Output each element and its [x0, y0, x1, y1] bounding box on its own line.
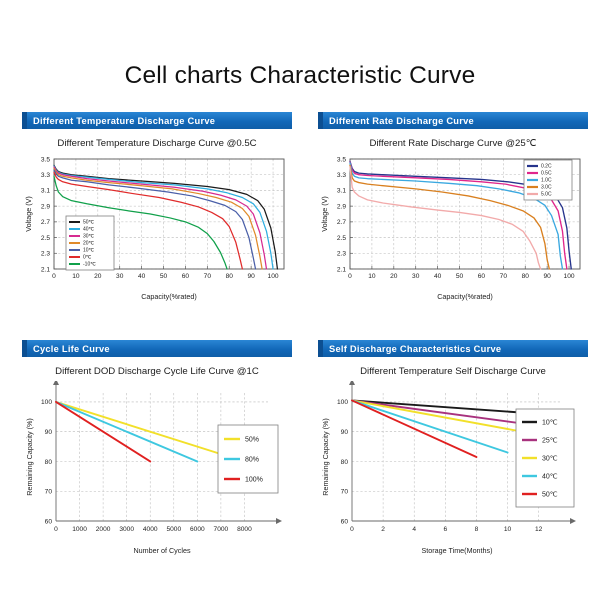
- panel-header-label: Cycle Life Curve: [33, 344, 110, 354]
- y-tick-label: 3.3: [41, 172, 50, 179]
- x-tick-label: 5000: [166, 526, 181, 533]
- legend-label: 3.0C: [541, 185, 552, 191]
- panel-header-label: Self Discharge Characteristics Curve: [329, 344, 501, 354]
- legend-label: 100%: [245, 476, 263, 483]
- x-tick-label: 10: [504, 526, 512, 533]
- y-tick-label: 2.5: [337, 235, 346, 242]
- y-axis-title: Voltage (V): [24, 196, 33, 232]
- chart-svg-self-discharge: 02468101260708090100Storage Time(Months)…: [318, 381, 588, 561]
- y-tick-label: 3.5: [41, 156, 50, 163]
- legend-label: 10℃: [83, 248, 95, 254]
- y-tick-label: 70: [45, 489, 53, 496]
- x-tick-label: 30: [412, 273, 420, 280]
- panel-header-label: Different Temperature Discharge Curve: [33, 116, 215, 126]
- x-axis-arrow-icon: [276, 518, 282, 524]
- legend-label: 30℃: [542, 455, 558, 462]
- x-tick-label: 1000: [72, 526, 87, 533]
- legend-label: 1.0C: [541, 178, 552, 184]
- page-title: Cell charts Characteristic Curve: [0, 62, 600, 90]
- y-tick-label: 3.5: [337, 156, 346, 163]
- panel-self-discharge: Self Discharge Characteristics Curve Dif…: [318, 340, 588, 561]
- legend-label: 25℃: [542, 437, 558, 444]
- x-tick-label: 100: [564, 273, 575, 280]
- x-tick-label: 80: [226, 273, 234, 280]
- y-tick-label: 60: [45, 518, 53, 525]
- x-tick-label: 6000: [190, 526, 205, 533]
- chart-svg-temperature-discharge: 01020304050607080901002.12.32.52.72.93.1…: [22, 153, 292, 303]
- x-axis-arrow-icon: [570, 518, 576, 524]
- panel-header-label: Different Rate Discharge Curve: [329, 116, 474, 126]
- legend-label: 50℃: [542, 491, 558, 498]
- panel-rate-discharge: Different Rate Discharge Curve Different…: [318, 112, 588, 303]
- x-tick-label: 8: [475, 526, 479, 533]
- y-tick-label: 60: [341, 518, 349, 525]
- y-tick-label: 2.9: [41, 203, 50, 210]
- plot-cycle-life: 0100020003000400050006000700080006070809…: [22, 381, 292, 561]
- y-tick-label: 3.3: [337, 172, 346, 179]
- chart-legend: 10℃25℃30℃40℃50℃: [516, 409, 574, 507]
- chart-body: 01020304050607080901002.12.32.52.72.93.1…: [24, 156, 284, 301]
- y-tick-label: 90: [341, 429, 349, 436]
- x-tick-label: 0: [52, 273, 56, 280]
- y-tick-label: 2.1: [41, 266, 50, 273]
- y-tick-label: 2.9: [337, 203, 346, 210]
- legend-label: 0.2C: [541, 164, 552, 170]
- x-tick-label: 90: [247, 273, 255, 280]
- x-tick-label: 10: [368, 273, 376, 280]
- y-tick-label: 2.7: [41, 219, 50, 226]
- chart-legend: 50℃40℃30℃20℃10℃0℃-10℃: [66, 216, 114, 270]
- legend-label: 0.5C: [541, 171, 552, 177]
- panel-subtitle-cycle-life: Different DOD Discharge Cycle Life Curve…: [22, 366, 292, 377]
- chart-svg-rate-discharge: 01020304050607080901002.12.32.52.72.93.1…: [318, 153, 588, 303]
- chart-legend: 50%80%100%: [218, 425, 278, 493]
- series-line: [352, 400, 539, 434]
- x-tick-label: 40: [434, 273, 442, 280]
- y-tick-label: 2.3: [337, 251, 346, 258]
- chart-body: 01020304050607080901002.12.32.52.72.93.1…: [320, 156, 580, 301]
- x-tick-label: 8000: [237, 526, 252, 533]
- y-tick-label: 100: [41, 399, 52, 406]
- y-tick-label: 3.1: [337, 188, 346, 195]
- y-tick-label: 3.1: [41, 188, 50, 195]
- x-tick-label: 80: [522, 273, 530, 280]
- panel-cycle-life: Cycle Life Curve Different DOD Discharge…: [22, 340, 292, 561]
- x-tick-label: 50: [160, 273, 168, 280]
- y-tick-label: 2.1: [337, 266, 346, 273]
- x-tick-label: 20: [390, 273, 398, 280]
- x-tick-label: 60: [478, 273, 486, 280]
- legend-label: 40℃: [83, 227, 95, 233]
- plot-rate-discharge: 01020304050607080901002.12.32.52.72.93.1…: [318, 153, 588, 303]
- x-axis-title: Capacity(%rated): [141, 292, 197, 301]
- x-tick-label: 70: [500, 273, 508, 280]
- x-tick-label: 2000: [96, 526, 111, 533]
- x-tick-label: 0: [54, 526, 58, 533]
- x-tick-label: 3000: [119, 526, 134, 533]
- x-tick-label: 70: [204, 273, 212, 280]
- chart-body: 02468101260708090100Storage Time(Months)…: [321, 381, 576, 555]
- y-axis-title: Remaining Capacity (%): [25, 418, 34, 496]
- panel-header-self-discharge: Self Discharge Characteristics Curve: [318, 340, 588, 357]
- x-tick-label: 7000: [214, 526, 229, 533]
- chart-legend: 0.2C0.5C1.0C3.0C5.0C: [524, 160, 572, 200]
- panel-header-temperature-discharge: Different Temperature Discharge Curve: [22, 112, 292, 129]
- legend-label: 40℃: [542, 473, 558, 480]
- y-tick-label: 2.7: [337, 219, 346, 226]
- x-tick-label: 100: [268, 273, 279, 280]
- x-tick-label: 0: [350, 526, 354, 533]
- x-tick-label: 4: [412, 526, 416, 533]
- y-axis-title: Remaining Capacity (%): [321, 418, 330, 496]
- y-tick-label: 90: [45, 429, 53, 436]
- x-tick-label: 40: [138, 273, 146, 280]
- series-line: [352, 400, 508, 452]
- legend-label: 0℃: [83, 255, 92, 261]
- legend-label: 80%: [245, 456, 259, 463]
- legend-label: 20℃: [83, 241, 95, 247]
- x-axis-title: Capacity(%rated): [437, 292, 493, 301]
- chart-body: 0100020003000400050006000700080006070809…: [25, 381, 282, 555]
- y-tick-label: 2.5: [41, 235, 50, 242]
- legend-label: 50%: [245, 436, 259, 443]
- legend-label: 30℃: [83, 234, 95, 240]
- plot-temperature-discharge: 01020304050607080901002.12.32.52.72.93.1…: [22, 153, 292, 303]
- x-tick-label: 2: [381, 526, 385, 533]
- x-tick-label: 12: [535, 526, 543, 533]
- y-tick-label: 2.3: [41, 251, 50, 258]
- x-tick-label: 60: [182, 273, 190, 280]
- y-axis-arrow-icon: [349, 381, 355, 385]
- x-tick-label: 30: [116, 273, 124, 280]
- x-tick-label: 20: [94, 273, 102, 280]
- legend-label: 5.0C: [541, 192, 552, 198]
- panel-subtitle-rate-discharge: Different Rate Discharge Curve @25℃: [318, 138, 588, 149]
- y-tick-label: 80: [341, 459, 349, 466]
- legend-label: -10℃: [83, 262, 96, 268]
- panel-header-cycle-life: Cycle Life Curve: [22, 340, 292, 357]
- poster-root: Cell charts Characteristic Curve Differe…: [0, 0, 600, 600]
- x-axis-title: Storage Time(Months): [421, 546, 492, 555]
- x-tick-label: 10: [72, 273, 80, 280]
- y-axis-title: Voltage (V): [320, 196, 329, 232]
- y-tick-label: 100: [337, 399, 348, 406]
- x-tick-label: 4000: [143, 526, 158, 533]
- legend-label: 10℃: [542, 419, 558, 426]
- x-tick-label: 50: [456, 273, 464, 280]
- panel-subtitle-self-discharge: Different Temperature Self Discharge Cur…: [318, 366, 588, 377]
- y-axis-arrow-icon: [53, 381, 59, 385]
- x-tick-label: 6: [443, 526, 447, 533]
- panel-temperature-discharge: Different Temperature Discharge Curve Di…: [22, 112, 292, 303]
- x-axis-title: Number of Cycles: [133, 546, 191, 555]
- legend-label: 50℃: [83, 220, 95, 226]
- y-tick-label: 80: [45, 459, 53, 466]
- panel-header-rate-discharge: Different Rate Discharge Curve: [318, 112, 588, 129]
- panel-subtitle-temperature-discharge: Different Temperature Discharge Curve @0…: [22, 138, 292, 149]
- x-tick-label: 90: [543, 273, 551, 280]
- plot-self-discharge: 02468101260708090100Storage Time(Months)…: [318, 381, 588, 561]
- x-tick-label: 0: [348, 273, 352, 280]
- y-tick-label: 70: [341, 489, 349, 496]
- chart-svg-cycle-life: 0100020003000400050006000700080006070809…: [22, 381, 292, 561]
